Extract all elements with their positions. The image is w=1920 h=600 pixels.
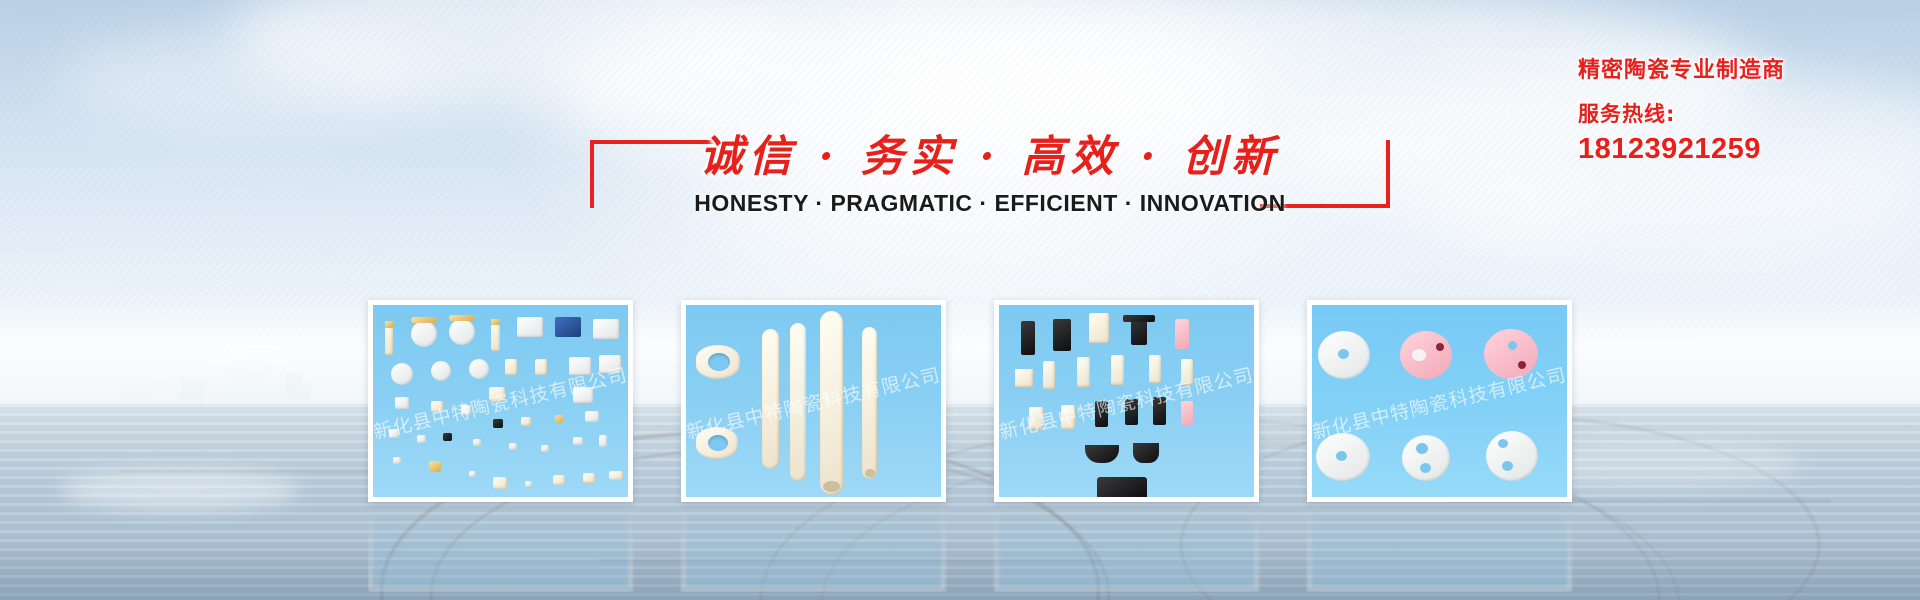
- ceramic-part: [1123, 315, 1155, 322]
- ceramic-part: [1061, 405, 1075, 429]
- ceramic-part: [1021, 321, 1035, 355]
- disc-hole: [1436, 343, 1444, 351]
- ceramic-part: [389, 429, 399, 438]
- ceramic-part: [493, 419, 503, 428]
- disc-hole: [1498, 439, 1508, 448]
- ceramic-part: [391, 363, 413, 385]
- ceramic-tube: [790, 323, 806, 481]
- ceramic-part: [443, 433, 452, 441]
- ceramic-part: [431, 361, 451, 381]
- ceramic-disc: [1486, 431, 1538, 481]
- ceramic-tube: [862, 327, 877, 479]
- ceramic-disc: [1402, 435, 1450, 481]
- ceramic-part: [429, 461, 441, 472]
- ring-hole: [708, 435, 728, 451]
- ceramic-tube: [820, 311, 843, 495]
- panel-image: 新化县中特陶瓷科技有限公司: [1312, 305, 1567, 497]
- ceramic-part: [393, 457, 401, 464]
- contact-block: 精密陶瓷专业制造商 服务热线: 18123921259: [1578, 52, 1908, 166]
- slogan-chinese: 诚信 · 务实 · 高效 · 创新: [590, 128, 1390, 186]
- ceramic-part: [541, 445, 549, 452]
- ceramic-part: [521, 417, 531, 426]
- ceramic-cross: [1015, 369, 1033, 387]
- disc-hole: [1416, 443, 1428, 454]
- ceramic-part: [1125, 399, 1138, 425]
- ceramic-part: [553, 475, 565, 485]
- hotline-number[interactable]: 18123921259: [1578, 133, 1908, 166]
- ceramic-blade: [1085, 445, 1119, 463]
- ceramic-part: [1153, 397, 1166, 425]
- product-panel-smd-components[interactable]: 新化县中特陶瓷科技有限公司: [368, 300, 633, 502]
- disc-hole: [1336, 451, 1347, 461]
- ceramic-part: [555, 317, 581, 337]
- ceramic-part: [385, 321, 393, 328]
- ceramic-part: [599, 435, 607, 447]
- ceramic-part: [411, 321, 437, 347]
- ground-highlight: [60, 470, 300, 510]
- ceramic-part: [569, 357, 591, 375]
- ceramic-part: [1181, 359, 1193, 385]
- ceramic-part: [1181, 401, 1193, 425]
- ceramic-part: [489, 387, 505, 401]
- ceramic-part: [609, 471, 623, 480]
- ceramic-part: [1111, 355, 1124, 385]
- ceramic-part: [469, 359, 489, 379]
- ring-hole: [708, 353, 730, 371]
- ceramic-part: [461, 405, 471, 415]
- ceramic-part: [599, 355, 621, 373]
- ceramic-part: [491, 319, 500, 325]
- ceramic-part: [593, 319, 619, 339]
- ceramic-part: [1077, 357, 1090, 387]
- ground-shadow: [0, 540, 1920, 600]
- ceramic-blade: [1133, 443, 1159, 463]
- hero-banner: 诚信 · 务实 · 高效 · 创新 HONESTY · PRAGMATIC · …: [0, 0, 1920, 600]
- ceramic-part: [411, 317, 437, 323]
- ceramic-part: [395, 397, 409, 409]
- ceramic-part: [1053, 319, 1071, 351]
- ceramic-part: [573, 387, 593, 403]
- panel-image: 新化县中特陶瓷科技有限公司: [373, 305, 628, 497]
- ceramic-part: [525, 481, 532, 487]
- ceramic-part: [1089, 313, 1109, 343]
- ceramic-part: [417, 435, 426, 443]
- ceramic-part: [1029, 407, 1043, 429]
- panel-image: 新化县中特陶瓷科技有限公司: [686, 305, 941, 497]
- slogan-block: 诚信 · 务实 · 高效 · 创新 HONESTY · PRAGMATIC · …: [590, 128, 1390, 228]
- ceramic-block: [1097, 477, 1147, 497]
- disc-hole: [1338, 349, 1349, 359]
- ceramic-part: [1095, 401, 1108, 427]
- ceramic-part: [469, 471, 476, 477]
- ceramic-part: [493, 477, 507, 489]
- ceramic-part: [535, 359, 547, 375]
- disc-hole: [1420, 463, 1431, 473]
- ceramic-part: [1043, 361, 1055, 389]
- disc-hole: [1502, 461, 1513, 471]
- disc-hole: [1412, 349, 1426, 361]
- product-panel-row: 新化县中特陶瓷科技有限公司 新化县中特陶瓷科技有限公司: [368, 300, 1598, 505]
- product-panel-ceramic-discs[interactable]: 新化县中特陶瓷科技有限公司: [1307, 300, 1572, 502]
- ceramic-part: [1175, 319, 1189, 349]
- ceramic-part: [505, 359, 517, 375]
- tube-bore: [823, 481, 840, 492]
- nozzle-hole: [1508, 341, 1517, 350]
- tube-bore: [865, 469, 875, 477]
- ceramic-tube: [762, 329, 779, 469]
- ceramic-part: [431, 401, 443, 412]
- product-panel-ceramic-tubes[interactable]: 新化县中特陶瓷科技有限公司: [681, 300, 946, 502]
- ceramic-nozzle: [1484, 329, 1538, 379]
- ceramic-disc: [1400, 331, 1452, 379]
- hotline-label: 服务热线:: [1578, 98, 1908, 128]
- ceramic-part: [555, 415, 563, 423]
- ceramic-part: [449, 319, 475, 345]
- ceramic-part: [1149, 355, 1161, 383]
- product-panel-ceramic-blocks[interactable]: 新化县中特陶瓷科技有限公司: [994, 300, 1259, 502]
- ceramic-part: [585, 411, 599, 422]
- ceramic-part: [517, 317, 543, 337]
- nozzle-hole: [1518, 361, 1526, 369]
- slogan-english: HONESTY · PRAGMATIC · EFFICIENT · INNOVA…: [590, 190, 1390, 217]
- ceramic-part: [449, 315, 475, 321]
- panel-image: 新化县中特陶瓷科技有限公司: [999, 305, 1254, 497]
- ceramic-part: [509, 443, 517, 450]
- ceramic-part: [583, 473, 595, 483]
- company-tagline: 精密陶瓷专业制造商: [1578, 52, 1908, 84]
- ceramic-part: [473, 439, 481, 446]
- ceramic-part: [573, 437, 583, 445]
